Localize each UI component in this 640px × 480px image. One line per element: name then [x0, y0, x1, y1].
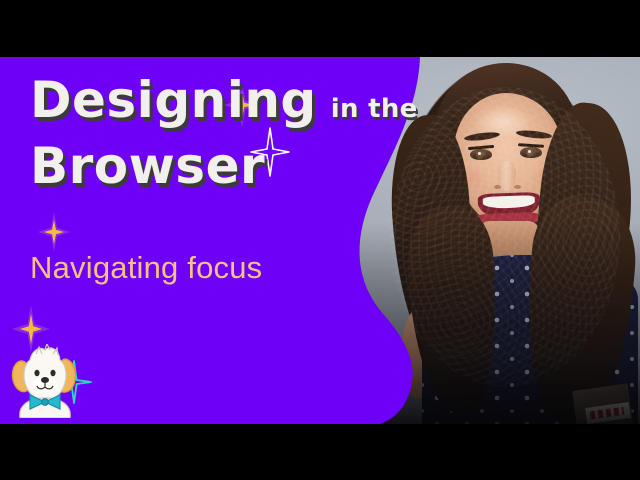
dog-eye-left: [34, 370, 39, 376]
video-thumbnail: Designing in the Browser Navigating focu…: [0, 0, 640, 480]
title-line-2: Browser: [30, 141, 418, 191]
dog-bowtie-knot: [42, 399, 49, 406]
title-word-designing: Designing: [30, 75, 317, 125]
letterbox-bar-top: [0, 0, 640, 57]
letterbox-bar-bottom: [0, 424, 640, 480]
video-frame: Designing in the Browser Navigating focu…: [0, 57, 640, 424]
sparkle-gold-purple-mid: [38, 212, 70, 252]
title-words-in-the: in the: [331, 96, 418, 122]
dog-mascot-logo: [6, 344, 84, 418]
subtitle-text: Navigating focus: [30, 250, 262, 286]
title-block: Designing in the Browser: [30, 75, 418, 191]
title-word-browser: Browser: [30, 137, 265, 195]
dog-eye-right: [50, 370, 55, 376]
dog-nose: [41, 377, 49, 383]
title-line-1: Designing in the: [30, 75, 418, 125]
